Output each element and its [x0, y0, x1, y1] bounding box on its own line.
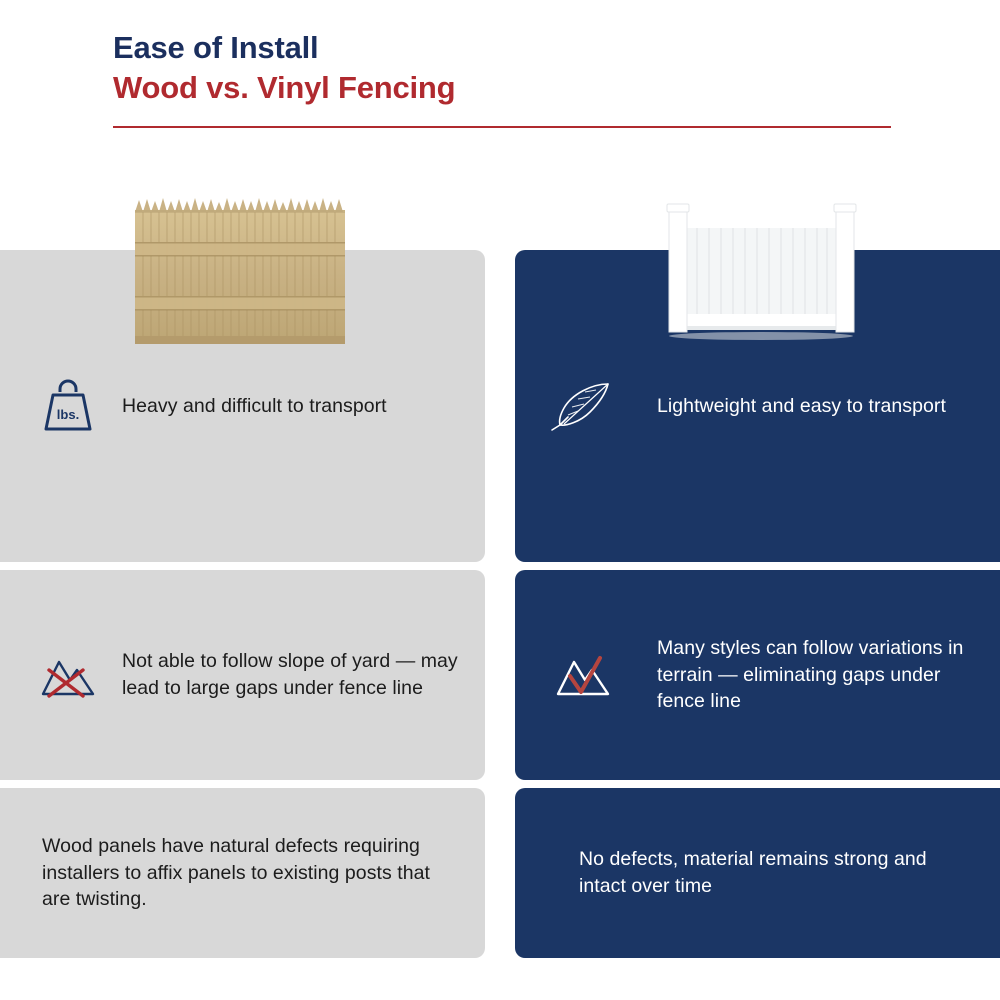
vinyl-panel-2: Many styles can follow variations in ter… [515, 570, 1000, 780]
feather-icon [537, 378, 629, 434]
wood-panel-2-text: Not able to follow slope of yard — may l… [114, 648, 461, 702]
infographic-page: Ease of Install Wood vs. Vinyl Fencing [0, 0, 1000, 1000]
wood-panel-3-text: Wood panels have natural defects requiri… [22, 833, 461, 914]
title-divider [113, 126, 891, 128]
weight-icon-label: lbs. [57, 407, 79, 422]
mountain-check-icon [537, 646, 629, 704]
wood-panel-1-text: Heavy and difficult to transport [114, 393, 387, 420]
wood-panel-3: Wood panels have natural defects requiri… [0, 788, 485, 958]
vinyl-panel-3: No defects, material remains strong and … [515, 788, 1000, 958]
wood-column: lbs. lbs. Heavy and difficult to transpo… [0, 250, 485, 958]
vinyl-column: Lightweight and easy to transport Many s… [515, 250, 1000, 958]
vinyl-panel-3-text: No defects, material remains strong and … [537, 846, 976, 900]
wood-fence-image [135, 196, 345, 347]
vinyl-panel-1-text: Lightweight and easy to transport [629, 393, 946, 420]
mountain-x-icon [22, 646, 114, 704]
page-title-primary: Ease of Install [113, 30, 893, 67]
header: Ease of Install Wood vs. Vinyl Fencing [113, 30, 893, 128]
page-title-secondary: Wood vs. Vinyl Fencing [113, 69, 893, 107]
vinyl-panel-2-text: Many styles can follow variations in ter… [629, 635, 976, 716]
weight-icon: lbs. lbs. [22, 375, 114, 437]
vinyl-fence-image [665, 196, 858, 347]
wood-panel-2: Not able to follow slope of yard — may l… [0, 570, 485, 780]
